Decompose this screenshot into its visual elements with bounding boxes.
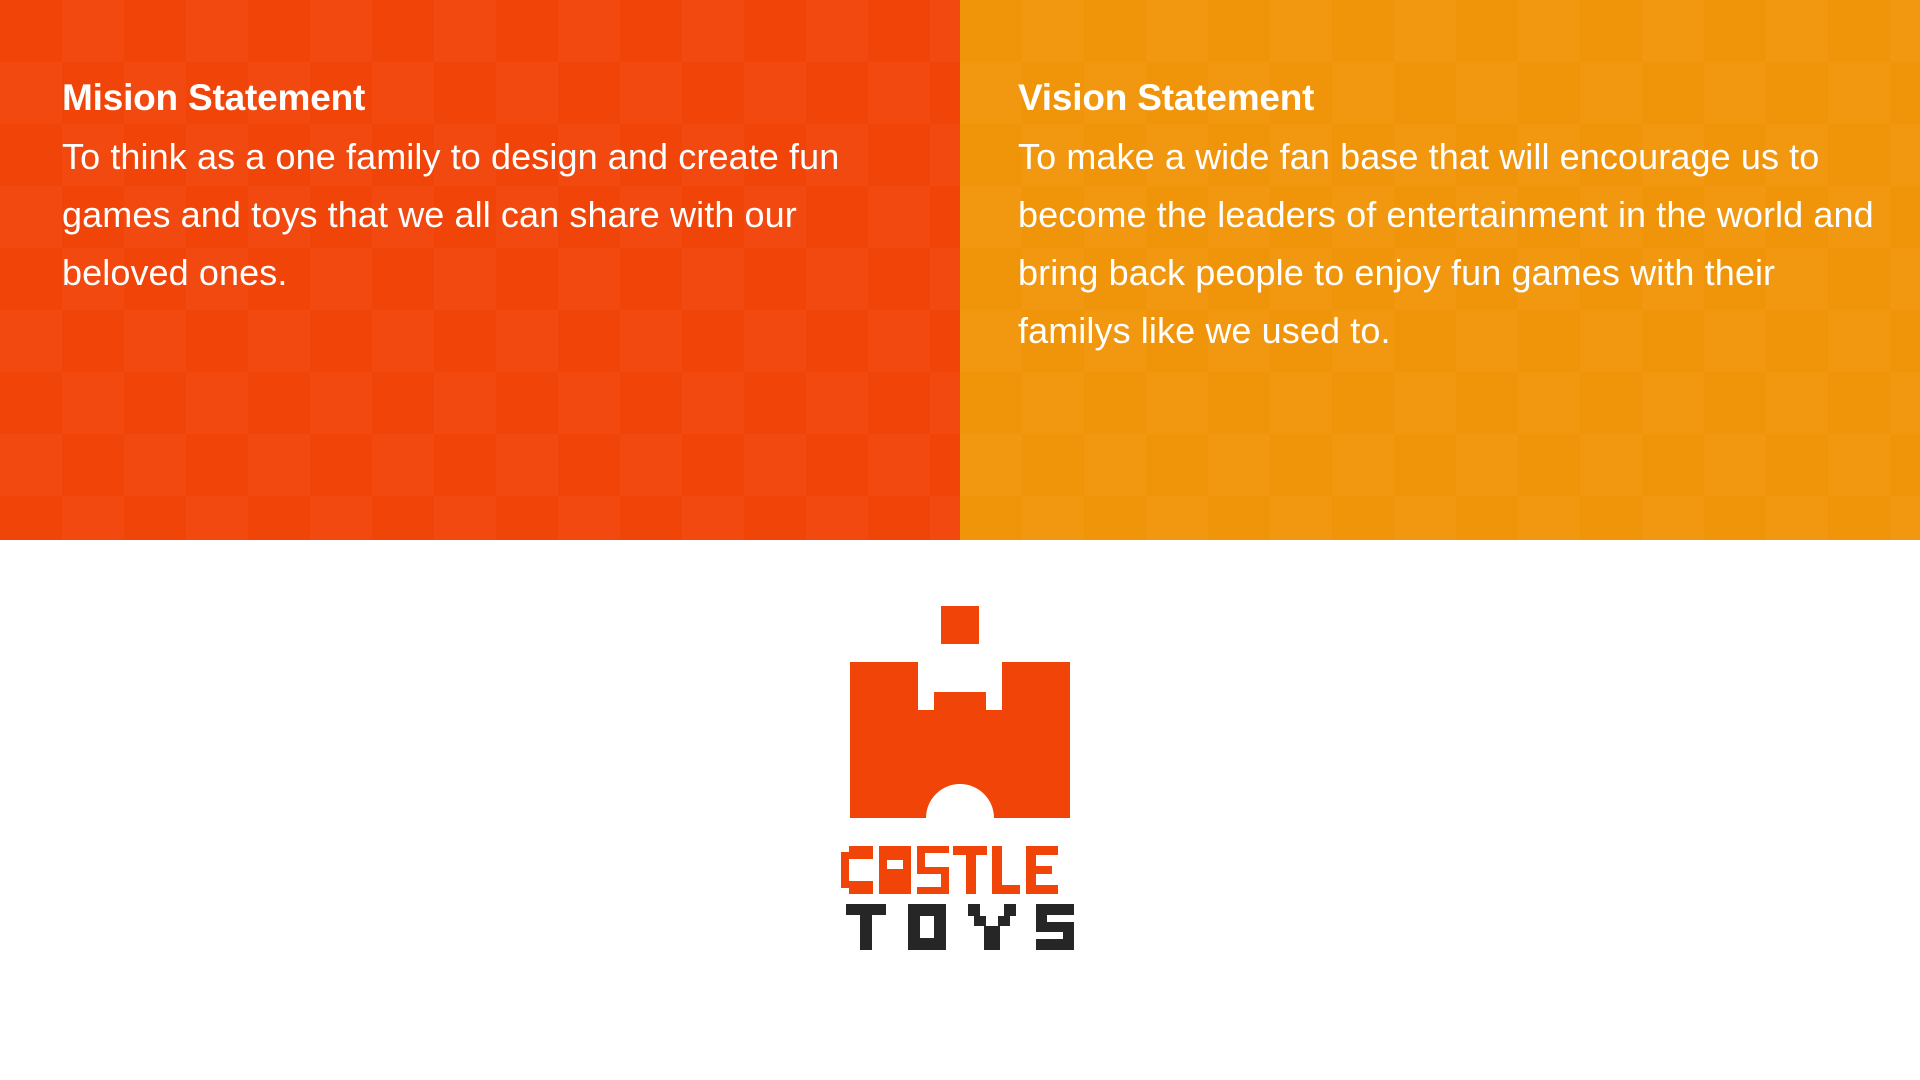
slide-canvas: Mision Statement To think as a one famil…: [0, 0, 1920, 1080]
logo-wordmark-toys: TOYS: [840, 904, 1080, 950]
castle-tower-icon: [840, 600, 1080, 832]
mission-body-text: To think as a one family to design and c…: [62, 128, 892, 302]
statements-band: Mision Statement To think as a one famil…: [0, 0, 1920, 540]
castle-toys-logo: CASTLE: [810, 600, 1110, 950]
mission-panel-content: Mision Statement To think as a one famil…: [0, 0, 960, 302]
castle-body-shape: [850, 662, 1070, 818]
vision-statement-panel: Vision Statement To make a wide fan base…: [960, 0, 1920, 540]
mission-heading: Mision Statement: [62, 76, 960, 120]
mission-statement-panel: Mision Statement To think as a one famil…: [0, 0, 960, 540]
castle-flag-square: [941, 606, 979, 644]
vision-heading: Vision Statement: [1018, 76, 1920, 120]
logo-wordmark-castle: CASTLE: [840, 846, 1080, 894]
vision-panel-content: Vision Statement To make a wide fan base…: [960, 0, 1920, 360]
vision-body-text: To make a wide fan base that will encour…: [1018, 128, 1878, 360]
